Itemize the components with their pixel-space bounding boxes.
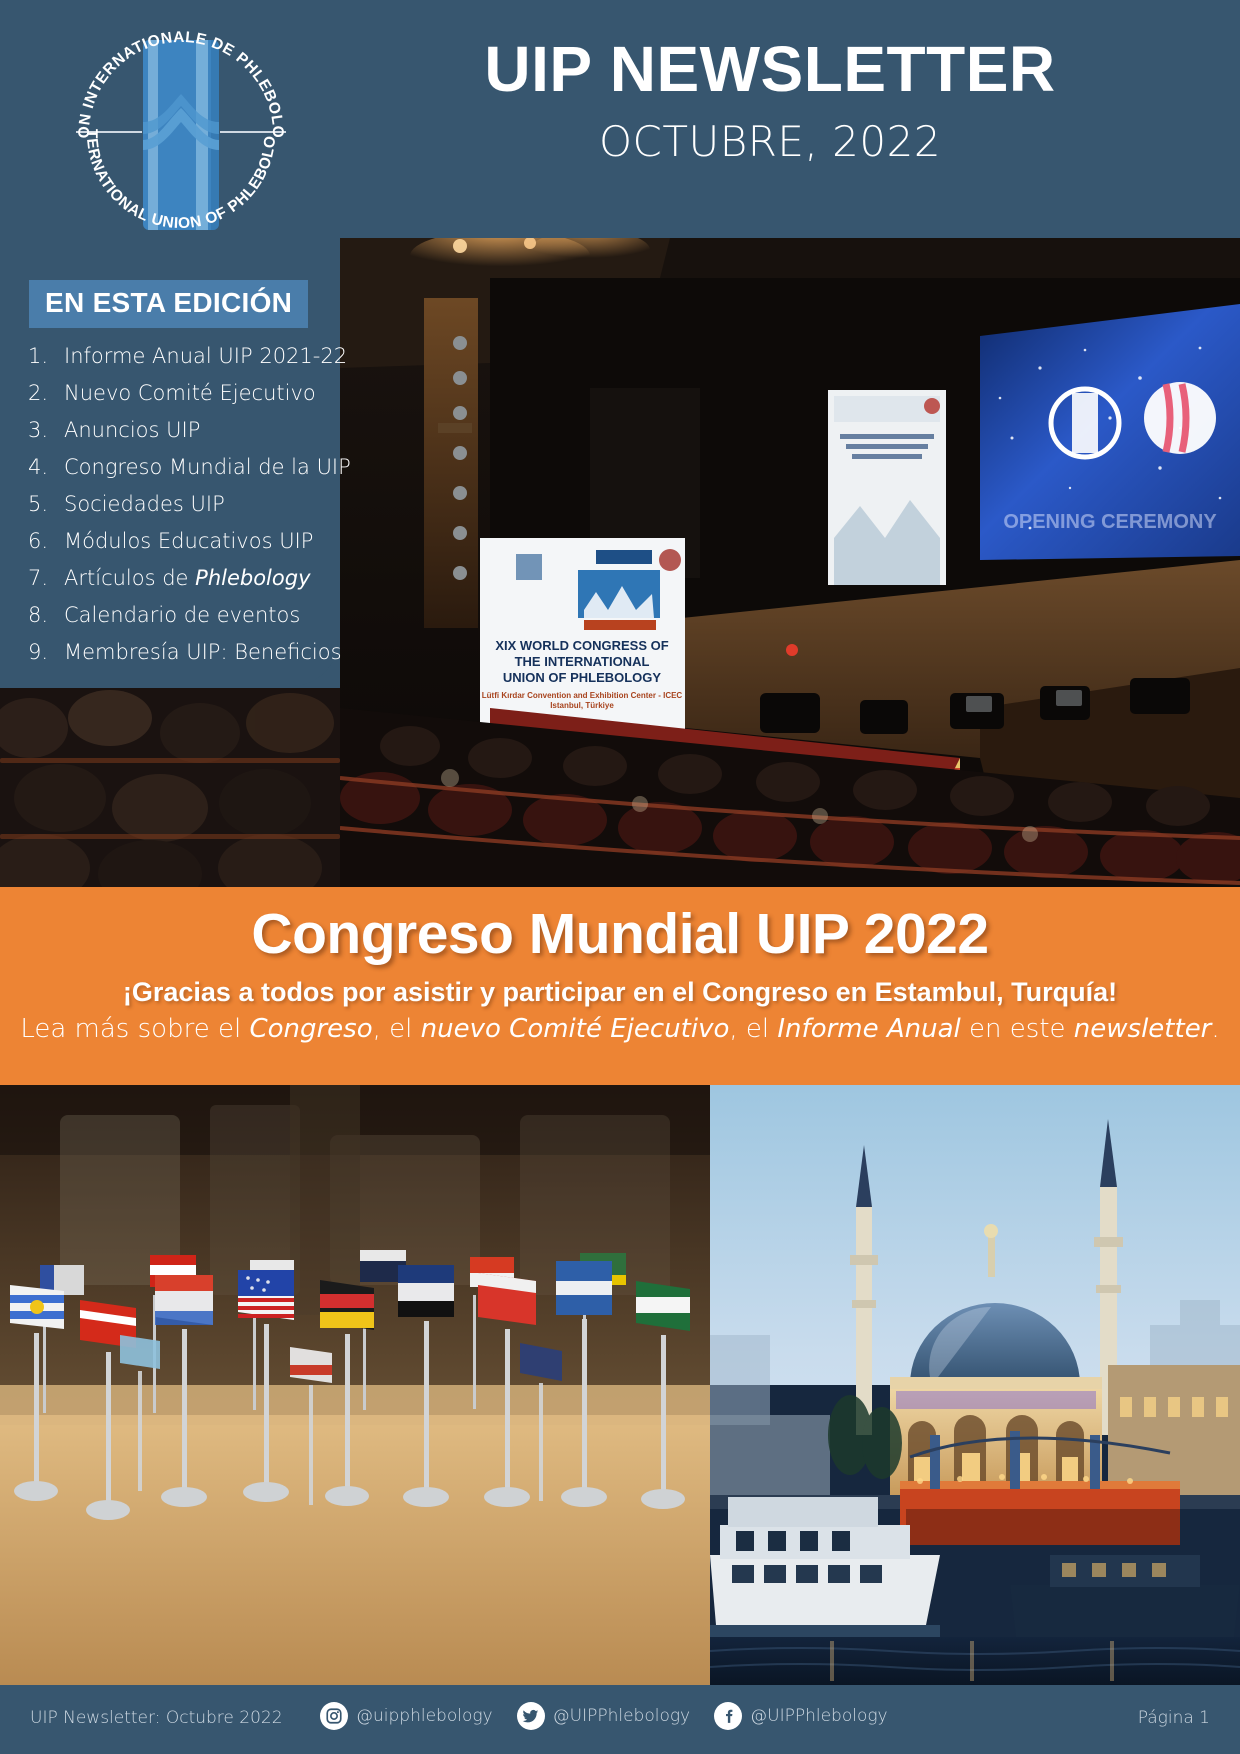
list-item[interactable]: 9. Membresía UIP: Beneficios — [28, 640, 328, 664]
flags-svg — [0, 1085, 710, 1685]
list-item-number: 4. — [28, 455, 64, 479]
list-item-label: Artículos de Phlebology — [64, 566, 328, 590]
audience-left-svg — [0, 688, 340, 888]
led-screen: OPENING CEREMONY — [980, 304, 1240, 560]
newsletter-page: UNION INTERNATIONALE DE PHLEBOLOGIE INTE… — [0, 0, 1240, 1754]
list-item-number: 8. — [28, 603, 64, 627]
svg-text:THE INTERNATIONAL: THE INTERNATIONAL — [515, 654, 650, 669]
uip-logo-icon: UNION INTERNATIONALE DE PHLEBOLOGIE INTE… — [56, 22, 306, 234]
svg-text:UNION OF PHLEBOLOGY: UNION OF PHLEBOLOGY — [503, 670, 662, 685]
twitter-handle: @UIPPhlebology — [553, 1706, 691, 1726]
instagram-handle: @uipphlebology — [356, 1706, 493, 1726]
issue-date: OCTUBRE, 2022 — [340, 117, 1200, 166]
list-item-label: Calendario de eventos — [64, 603, 328, 627]
list-item-number: 6. — [28, 529, 64, 553]
list-item[interactable]: 8. Calendario de eventos — [28, 603, 328, 627]
list-item[interactable]: 1. Informe Anual UIP 2021-22 — [28, 344, 328, 368]
svg-text:Lütfi Kırdar Convention and Ex: Lütfi Kırdar Convention and Exhibition C… — [482, 691, 683, 700]
page-number: Página 1 — [1138, 1708, 1210, 1728]
toc-list: 1. Informe Anual UIP 2021-22 2. Nuevo Co… — [28, 344, 328, 677]
stage-poster — [828, 390, 946, 585]
page-footer: UIP Newsletter: Octubre 2022 @uipphlebol… — [0, 1685, 1240, 1754]
toc-badge-label: EN ESTA EDICIÓN — [45, 287, 292, 318]
congress-read-more-line: Lea más sobre el Congreso, el nuevo Comi… — [0, 1014, 1240, 1044]
list-item-number: 1. — [28, 344, 64, 368]
list-item-number: 2. — [28, 381, 64, 405]
mosque-svg — [710, 1085, 1240, 1685]
congress-title: Congreso Mundial UIP 2022 — [0, 887, 1240, 967]
mosque-photo — [710, 1085, 1240, 1685]
hero-svg: OPENING CEREMONY XIX WORLD CONGRESS OF T… — [340, 238, 1240, 888]
audience-photo-left — [0, 688, 340, 888]
list-item[interactable]: 2. Nuevo Comité Ejecutivo — [28, 381, 328, 405]
toc-panel: EN ESTA EDICIÓN 1. Informe Anual UIP 202… — [0, 262, 338, 686]
footer-social-links: @uipphlebology @UIPPhlebology @UIPPhlebo… — [320, 1702, 920, 1730]
list-item[interactable]: 7. Artículos de Phlebology — [28, 566, 328, 590]
list-item-label: Anuncios UIP — [64, 418, 328, 442]
page-title: UIP NEWSLETTER — [340, 36, 1200, 103]
svg-text:XIX WORLD CONGRESS OF: XIX WORLD CONGRESS OF — [495, 638, 668, 653]
facebook-icon[interactable] — [714, 1702, 742, 1730]
list-item-label: Congreso Mundial de la UIP — [64, 455, 351, 479]
list-item-label: Nuevo Comité Ejecutivo — [64, 381, 328, 405]
list-item-number: 9. — [28, 640, 64, 664]
svg-text:Istanbul, Türkiye: Istanbul, Türkiye — [550, 701, 614, 710]
page-header: UNION INTERNATIONALE DE PHLEBOLOGIE INTE… — [0, 0, 1240, 238]
list-item-label: Módulos Educativos UIP — [64, 529, 328, 553]
list-item[interactable]: 5. Sociedades UIP — [28, 492, 328, 516]
list-item-number: 7. — [28, 566, 64, 590]
list-item-label: Sociedades UIP — [64, 492, 328, 516]
list-item-number: 3. — [28, 418, 64, 442]
list-item-label: Membresía UIP: Beneficios — [64, 640, 342, 664]
hero-congress-photo: OPENING CEREMONY XIX WORLD CONGRESS OF T… — [340, 238, 1240, 888]
footer-issue-label: UIP Newsletter: Octubre 2022 — [30, 1708, 283, 1728]
social-twitter[interactable]: @UIPPhlebology — [517, 1702, 691, 1730]
uip-logo: UNION INTERNATIONALE DE PHLEBOLOGIE INTE… — [56, 22, 306, 234]
list-item-label: Informe Anual UIP 2021-22 — [64, 344, 347, 368]
list-item-italic: Phlebology — [195, 566, 310, 590]
congress-thanks-line: ¡Gracias a todos por asistir y participa… — [0, 977, 1240, 1008]
svg-text:OPENING CEREMONY: OPENING CEREMONY — [1003, 511, 1217, 533]
header-title-block: UIP NEWSLETTER OCTUBRE, 2022 — [340, 36, 1200, 166]
congress-banner-section: Congreso Mundial UIP 2022 ¡Gracias a tod… — [0, 887, 1240, 1085]
flags-photo — [0, 1085, 710, 1685]
mosque-body — [890, 1377, 1102, 1495]
facebook-handle: @UIPPhlebology — [750, 1706, 888, 1726]
list-item-number: 5. — [28, 492, 64, 516]
toc-badge: EN ESTA EDICIÓN — [29, 280, 308, 328]
social-facebook[interactable]: @UIPPhlebology — [714, 1702, 888, 1730]
instagram-icon[interactable] — [320, 1702, 348, 1730]
list-item[interactable]: 4. Congreso Mundial de la UIP — [28, 455, 328, 479]
list-item[interactable]: 3. Anuncios UIP — [28, 418, 328, 442]
social-instagram[interactable]: @uipphlebology — [320, 1702, 493, 1730]
twitter-icon[interactable] — [517, 1702, 545, 1730]
list-item[interactable]: 6. Módulos Educativos UIP — [28, 529, 328, 553]
